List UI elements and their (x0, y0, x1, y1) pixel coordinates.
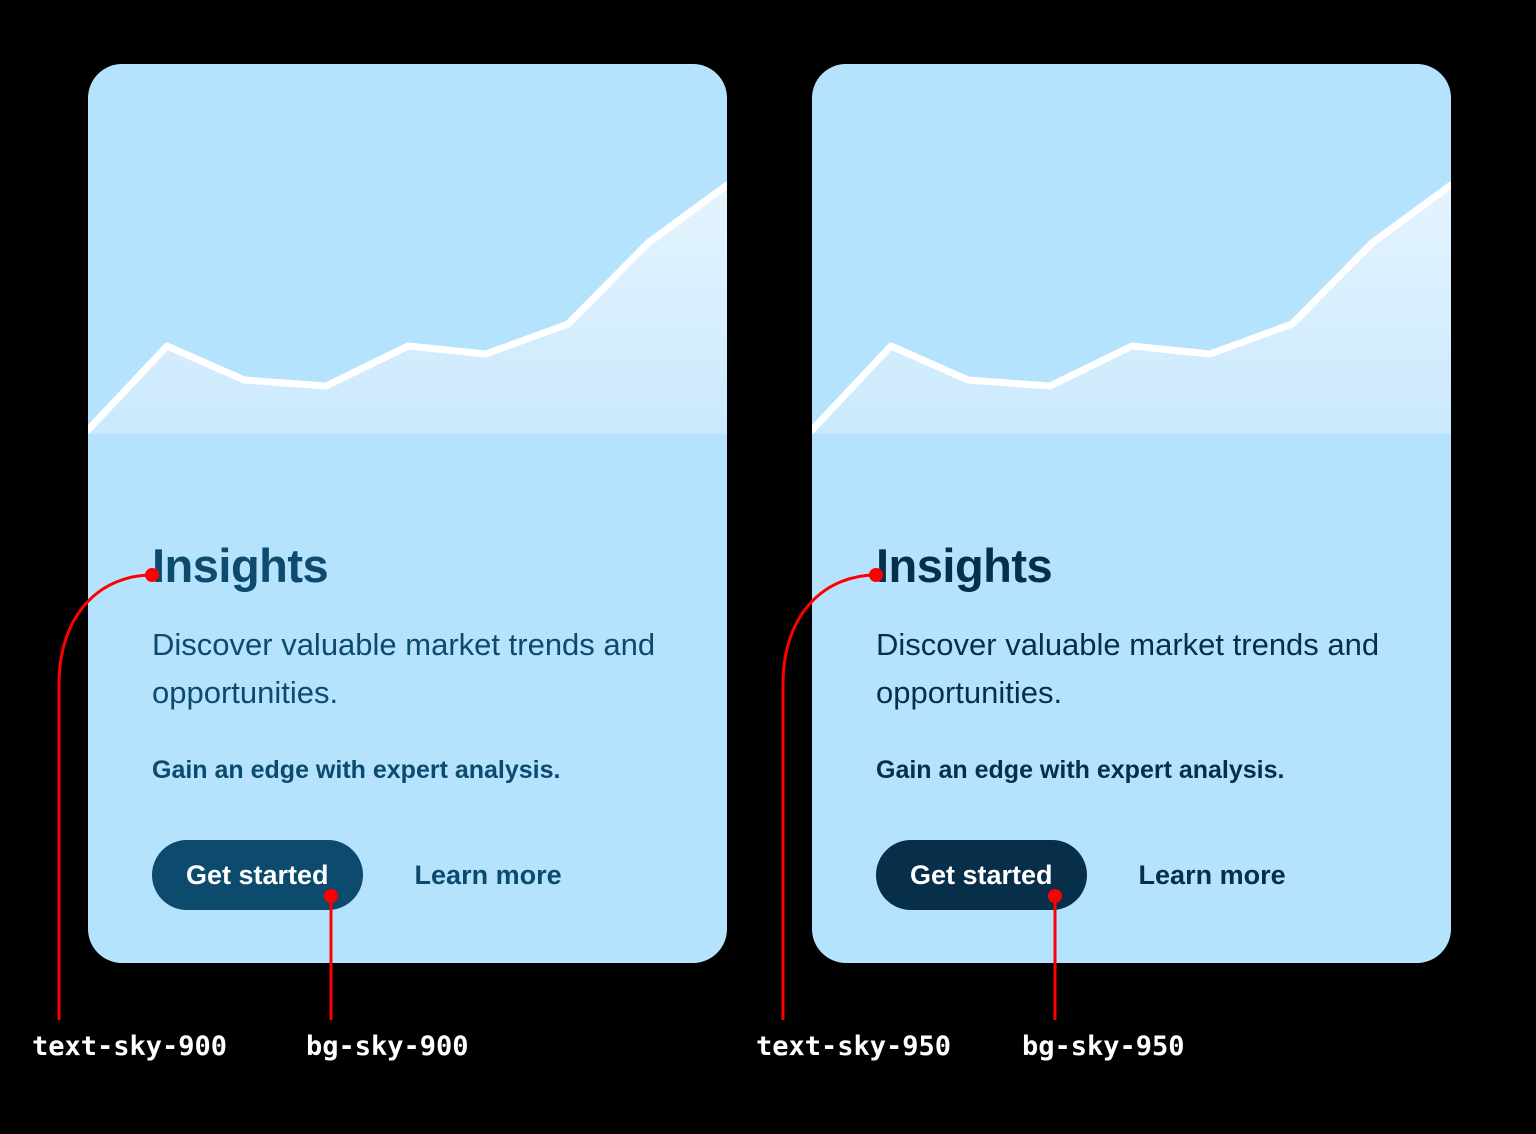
canvas: Insights Discover valuable market trends… (0, 0, 1536, 1134)
card-sky-950: Insights Discover valuable market trends… (812, 64, 1451, 963)
card-content: Insights Discover valuable market trends… (152, 542, 687, 910)
card-title: Insights (876, 542, 1411, 589)
card-subtext: Gain an edge with expert analysis. (152, 753, 687, 788)
annotation-label-bg-sky-900: bg-sky-900 (306, 1031, 469, 1062)
area-fill (88, 185, 727, 434)
learn-more-link[interactable]: Learn more (415, 860, 562, 891)
card-subtext: Gain an edge with expert analysis. (876, 753, 1411, 788)
annotation-label-text-sky-950: text-sky-950 (756, 1031, 951, 1062)
card-description: Discover valuable market trends and oppo… (152, 621, 672, 717)
get-started-button[interactable]: Get started (152, 840, 363, 910)
card-actions: Get started Learn more (876, 840, 1411, 910)
get-started-button[interactable]: Get started (876, 840, 1087, 910)
area-chart (88, 64, 727, 434)
card-description: Discover valuable market trends and oppo… (876, 621, 1396, 717)
card-sky-900: Insights Discover valuable market trends… (88, 64, 727, 963)
card-actions: Get started Learn more (152, 840, 687, 910)
annotation-label-text-sky-900: text-sky-900 (32, 1031, 227, 1062)
card-title: Insights (152, 542, 687, 589)
area-chart (812, 64, 1451, 434)
learn-more-link[interactable]: Learn more (1139, 860, 1286, 891)
card-content: Insights Discover valuable market trends… (876, 542, 1411, 910)
annotation-label-bg-sky-950: bg-sky-950 (1022, 1031, 1185, 1062)
area-fill (812, 185, 1451, 434)
